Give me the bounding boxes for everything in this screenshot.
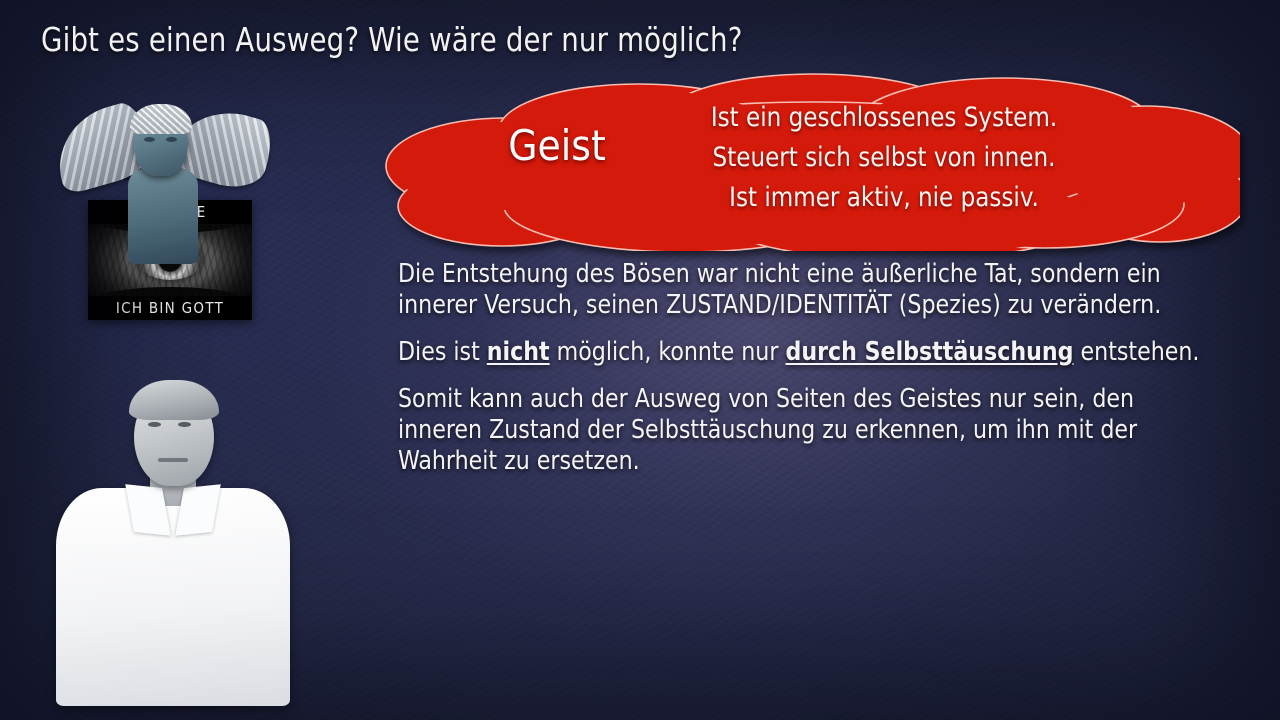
- cloud-statement-1: Ist ein geschlossenes System.: [618, 98, 1150, 138]
- body-paragraph-1: Die Entstehung des Bösen war nicht eine …: [398, 259, 1201, 321]
- adam-eye-right: [178, 422, 191, 427]
- plain-text: Dies ist: [398, 337, 487, 367]
- page-title: Gibt es einen Ausweg? Wie wäre der nur m…: [41, 20, 743, 59]
- plain-text: Somit kann auch der Ausweg von Seiten de…: [398, 384, 1137, 476]
- emphasised-text: durch Selbsttäuschung: [785, 337, 1073, 367]
- angel-eye-right: [166, 137, 177, 142]
- angel-statue-photo: [56, 104, 266, 264]
- figure-luzifer: [56, 104, 266, 324]
- geist-cloud-callout: Geist Ist ein geschlossenes System. Steu…: [384, 66, 1240, 251]
- cloud-statement-list: Ist ein geschlossenes System. Steuert si…: [604, 98, 1164, 218]
- plain-text: Die Entstehung des Bösen war nicht eine …: [398, 259, 1161, 320]
- cloud-statement-3: Ist immer aktiv, nie passiv.: [618, 178, 1150, 218]
- angel-hair: [130, 104, 192, 134]
- adam-shirt: [56, 488, 290, 706]
- angel-eye-left: [144, 137, 155, 142]
- body-text-block: Die Entstehung des Bösen war nicht eine …: [398, 259, 1230, 477]
- body-paragraph-2: Dies ist nicht möglich, konnte nur durch…: [398, 337, 1201, 368]
- emphasised-text: nicht: [487, 337, 550, 367]
- figure-adam: [22, 370, 322, 706]
- angel-torso: [128, 168, 198, 264]
- body-paragraph-3: Somit kann auch der Ausweg von Seiten de…: [398, 384, 1201, 477]
- plain-text: möglich, konnte nur: [550, 337, 786, 367]
- slide-canvas: Gibt es einen Ausweg? Wie wäre der nur m…: [0, 0, 1280, 720]
- cloud-statement-2: Steuert sich selbst von innen.: [618, 138, 1150, 178]
- adam-hair: [129, 380, 219, 420]
- plain-text: entstehen.: [1074, 337, 1200, 367]
- adam-mouth: [158, 458, 188, 462]
- adam-eye-left: [148, 422, 161, 427]
